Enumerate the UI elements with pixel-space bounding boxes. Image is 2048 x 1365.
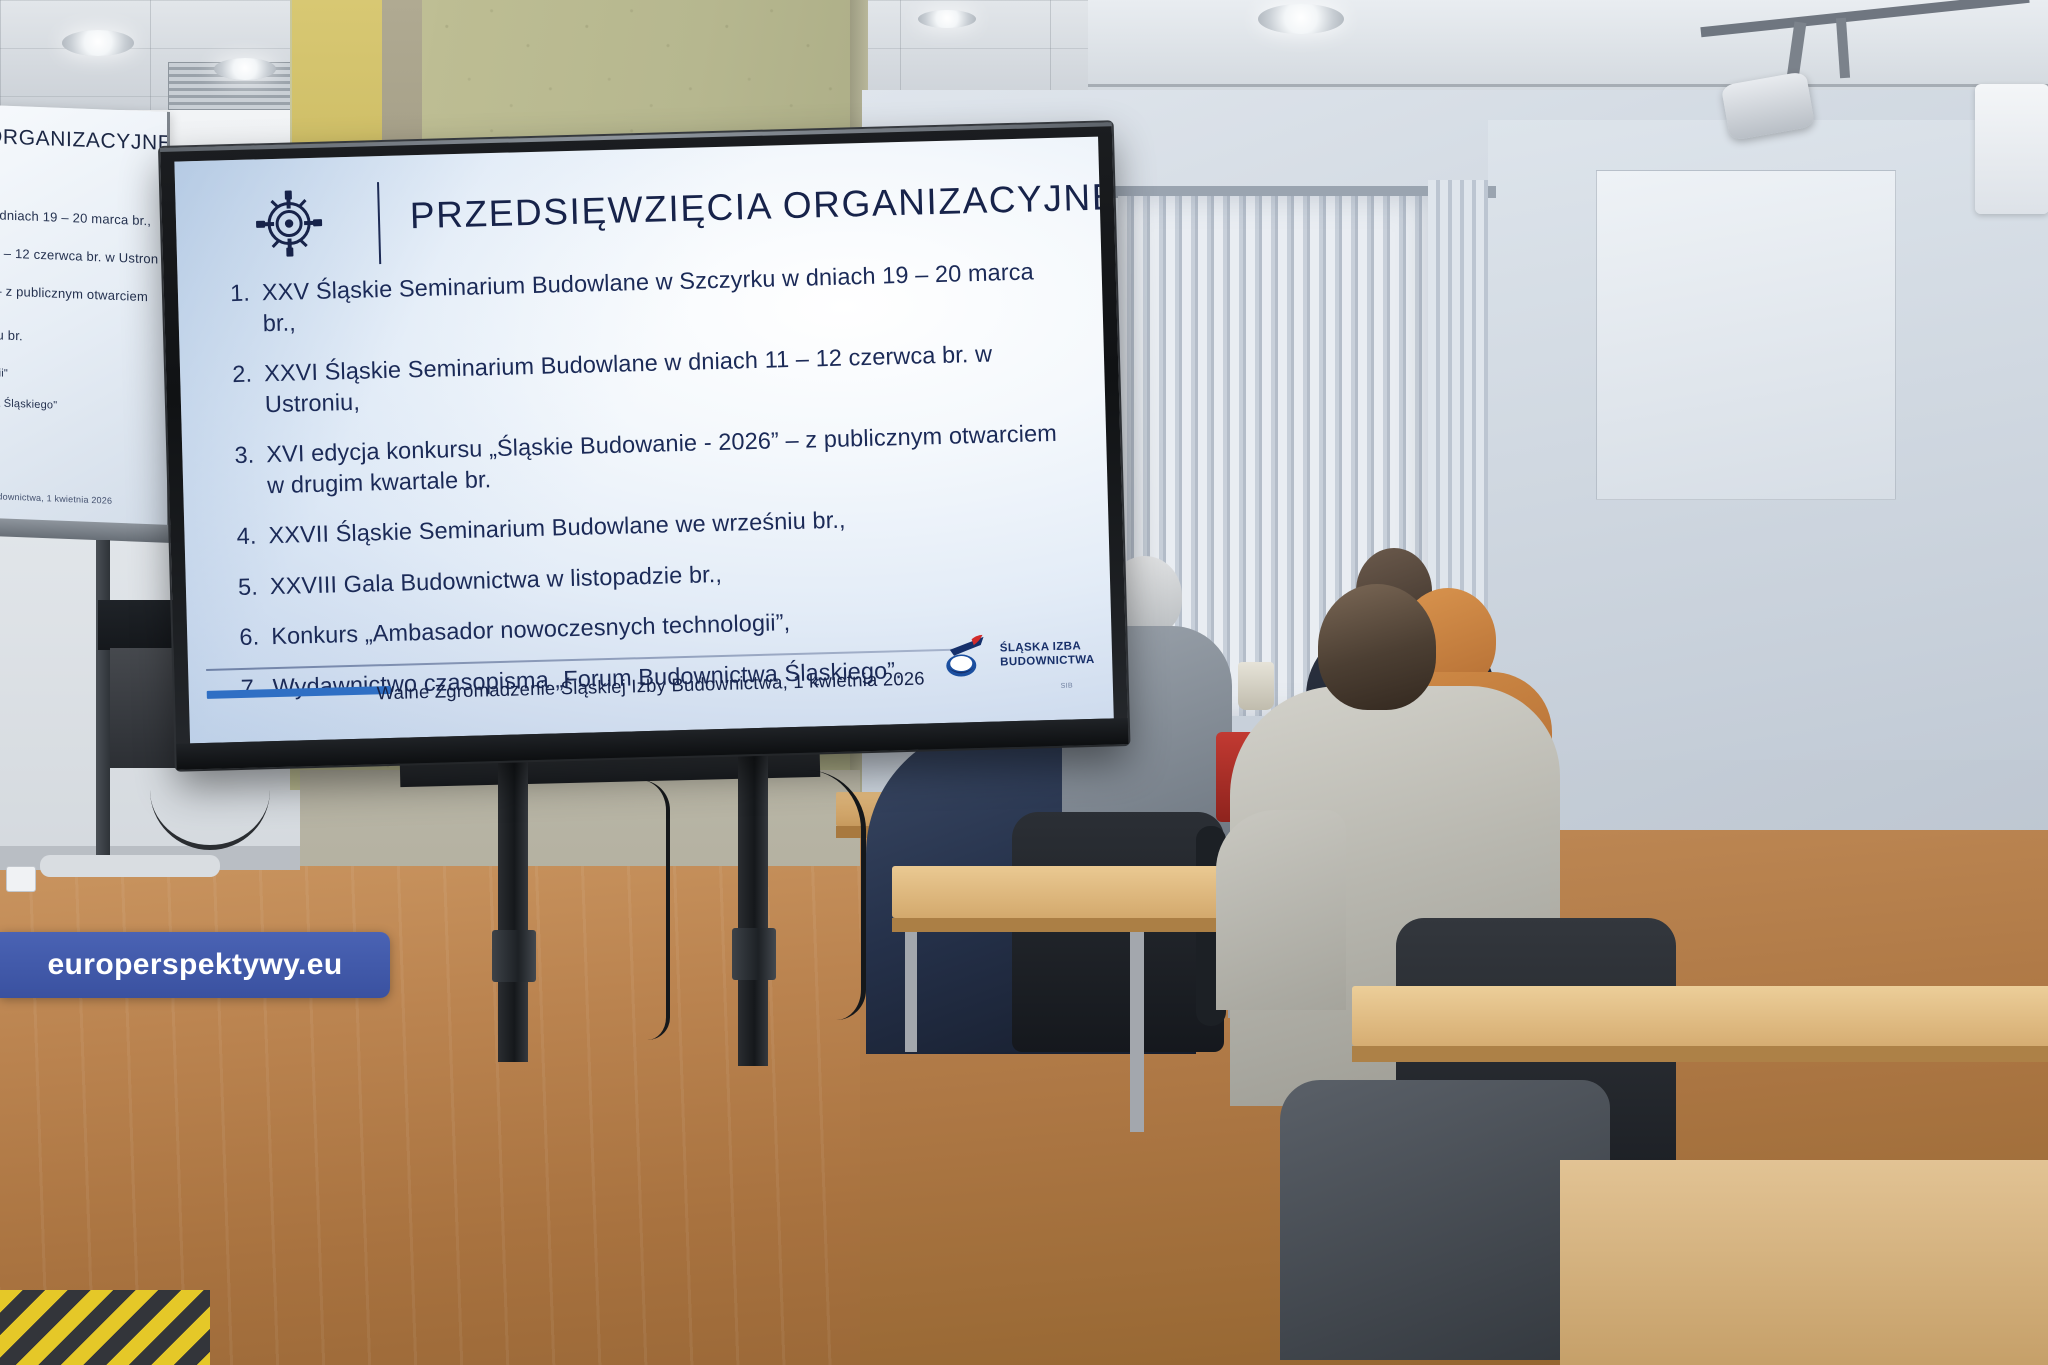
watermark-badge: europerspektywy.eu — [0, 932, 390, 998]
ceiling-downlight — [1258, 4, 1344, 34]
organization-logo-text: ŚLĄSKA IZBA BUDOWNICTWA — [1000, 640, 1095, 670]
secondary-projection-screen: ORGANIZACYJNE IZB w dniach 19 – 20 marca… — [0, 105, 170, 532]
tv-stand-pole-right — [738, 756, 768, 1066]
list-item-number: 1. — [218, 277, 263, 309]
presentation-slide: PRZEDSIĘWZIĘCIA ORGANIZACYJNE IZBY 1. XX… — [174, 137, 1113, 744]
list-item-text: XXVI Śląskie Seminarium Budowlane w dnia… — [264, 336, 1075, 419]
list-item-number: 5. — [225, 571, 270, 603]
list-item-text: XXVIII Gala Budownictwa w listopadzie br… — [269, 549, 1080, 601]
office-chair — [1012, 812, 1224, 1052]
tv-stand-pole-left — [498, 762, 528, 1062]
chamber-emblem-icon — [941, 633, 992, 682]
list-item: 4. XXVII Śląskie Seminarium Budowlane we… — [224, 499, 1079, 553]
secondary-screen-foot — [40, 855, 220, 877]
secondary-screen-line: ogii" — [0, 367, 8, 380]
foreground-attendee-head — [1318, 584, 1436, 710]
foreground-table-leg — [905, 932, 917, 1052]
list-item-number: 3. — [222, 439, 267, 471]
secondary-screen-line: 11 – 12 czerwca br. w Ustron — [0, 245, 158, 267]
foreground-table — [892, 866, 1272, 918]
organization-name-line2: BUDOWNICTWA — [1000, 654, 1095, 670]
wall-panel-white — [1596, 170, 1896, 500]
list-item-number: 2. — [220, 358, 265, 390]
tv-stand-clamp-left — [492, 930, 536, 982]
watermark-label: europerspektywy.eu — [47, 948, 342, 982]
list-item: 2. XXVI Śląskie Seminarium Budowlane w d… — [220, 336, 1075, 420]
secondary-screen-line: ” – z publicznym otwarciem — [0, 283, 148, 304]
foreground-table-leg — [1130, 932, 1144, 1132]
paper-cup — [1238, 662, 1274, 710]
secondary-screen-line: niu br. — [0, 327, 23, 343]
floor-hazard-marking — [0, 1290, 210, 1365]
crosshair-target-icon — [253, 188, 325, 260]
presentation-display[interactable]: PRZEDSIĘWZIĘCIA ORGANIZACYJNE IZBY 1. XX… — [160, 122, 1128, 770]
foreground-attendee-arm — [1216, 810, 1346, 1010]
organization-logo: ŚLĄSKA IZBA BUDOWNICTWA SIB — [941, 623, 1093, 689]
slide-title: PRZEDSIĘWZIĘCIA ORGANIZACYJNE IZBY — [409, 173, 1113, 237]
bottom-right-table — [1560, 1160, 2048, 1365]
header-divider — [377, 182, 381, 264]
tv-power-cable — [806, 770, 866, 1020]
slide-header: PRZEDSIĘWZIĘCIA ORGANIZACYJNE IZBY — [209, 164, 1067, 273]
tv-signal-cable — [640, 780, 670, 1040]
footer-rule — [206, 648, 962, 670]
secondary-screen-line: w dniach 19 – 20 marca br., — [0, 207, 151, 228]
wall-socket — [6, 866, 36, 892]
list-item-text: XXVII Śląskie Seminarium Budowlane we wr… — [268, 499, 1079, 551]
tv-stand-clamp-right — [732, 928, 776, 980]
ceiling-downlight — [918, 10, 976, 28]
foreground-table-edge — [892, 918, 1272, 932]
ceiling-downlight — [214, 58, 276, 80]
list-item-text: XVI edycja konkursu „Śląskie Budowanie -… — [266, 418, 1077, 501]
wall-speaker — [1975, 84, 2048, 214]
rear-table — [1352, 986, 2048, 1046]
slide-screen[interactable]: PRZEDSIĘWZIĘCIA ORGANIZACYJNE IZBY 1. XX… — [174, 137, 1113, 744]
secondary-screen-title: ORGANIZACYJNE IZB — [0, 125, 170, 158]
ceiling-downlight — [62, 30, 134, 56]
list-item: 5. XXVIII Gala Budownictwa w listopadzie… — [225, 549, 1080, 603]
rear-table-edge — [1352, 1046, 2048, 1062]
list-item-number: 4. — [224, 520, 269, 552]
secondary-screen-line: wa Śląskiego" — [0, 397, 57, 412]
secondary-screen-stand — [96, 540, 110, 860]
list-item: 3. XVI edycja konkursu „Śląskie Budowani… — [222, 418, 1077, 502]
conference-room-scene: ORGANIZACYJNE IZB w dniach 19 – 20 marca… — [0, 0, 2048, 1365]
secondary-screen-footer: Budownictwa, 1 kwietnia 2026 — [0, 491, 112, 506]
ceiling-seam — [1088, 84, 2048, 87]
organization-logo-caption: SIB — [1061, 683, 1073, 690]
